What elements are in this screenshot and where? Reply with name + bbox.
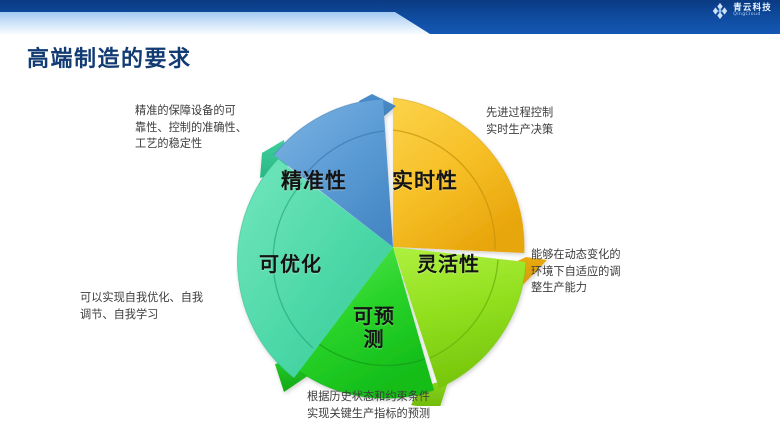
segment-label-predictable: 可预测: [346, 305, 402, 351]
segment-note-realtime: 先进过程控制 实时生产决策: [486, 105, 636, 138]
slide-header-band: [0, 0, 780, 34]
segment-label-flexible: 灵活性: [417, 248, 480, 277]
segment-note-precise: 精准的保障设备的可 靠性、控制的准确性、 工艺的稳定性: [135, 103, 285, 153]
brand-logo: 青云科技 QingCloud: [711, 2, 772, 20]
brand-name-en: QingCloud: [733, 13, 772, 18]
segment-label-realtime: 实时性: [392, 165, 458, 195]
segment-label-precise: 精准性: [281, 165, 347, 195]
segment-note-flexible: 能够在动态变化的 环境下自适应的调 整生产能力: [531, 247, 663, 297]
page-title: 高端制造的要求: [27, 41, 192, 73]
slide-canvas: 青云科技 QingCloud 高端制造的要求: [0, 0, 780, 438]
qingcloud-diamond-logo-icon: [711, 2, 729, 20]
segment-note-optimizable: 可以实现自我优化、自我 调节、自我学习: [80, 290, 240, 323]
segment-label-optimizable: 可优化: [259, 248, 322, 277]
segment-note-predictable: 根据历史状态和约束条件 实现关键生产指标的预测: [307, 389, 522, 422]
brand-logo-text: 青云科技 QingCloud: [733, 4, 772, 18]
